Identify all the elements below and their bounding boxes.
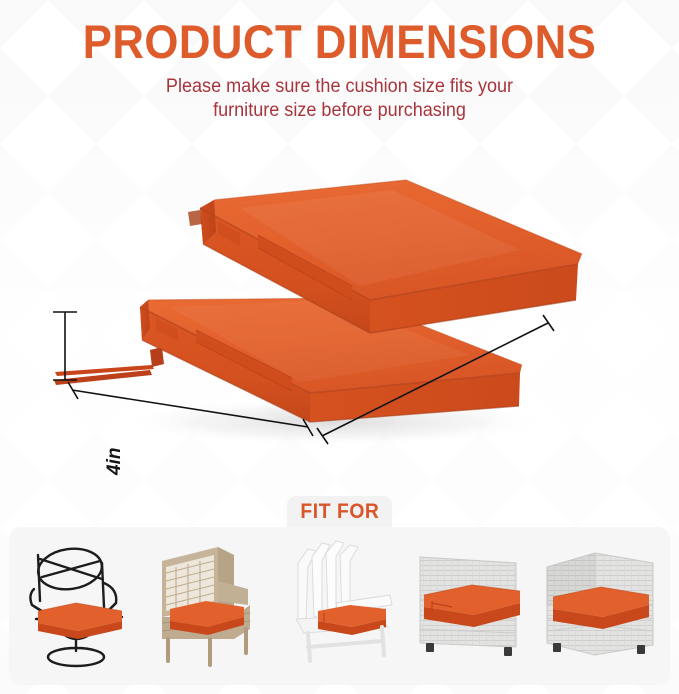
page-subtitle: Please make sure the cushion size fits y…	[17, 75, 662, 124]
fit-for-item-list	[9, 527, 670, 685]
fit-item-black-metal-swivel-chair[interactable]	[13, 527, 144, 679]
fit-item-gray-wicker-corner-sectional-chair[interactable]	[535, 527, 666, 679]
cushion-stack-svg	[0, 150, 679, 480]
fit-item-white-adirondack-chair[interactable]	[274, 527, 405, 679]
orange-cushion-on-chair	[318, 605, 386, 635]
black-metal-swivel-chair-icon	[18, 533, 138, 673]
gray-wicker-corner-sectional-chair-icon	[537, 533, 665, 673]
header: PRODUCT DIMENSIONS Please make sure the …	[0, 18, 679, 124]
subtitle-line-2: furniture size before purchasing	[17, 99, 662, 123]
dimension-label-height: 4in	[104, 448, 126, 475]
white-adirondack-chair-icon	[278, 533, 400, 673]
fit-for-label: FIT FOR	[300, 500, 379, 524]
orange-cushion-on-chair	[38, 603, 122, 639]
gray-wicker-armless-sectional-chair-icon	[406, 533, 534, 673]
fit-for-badge: FIT FOR	[287, 496, 392, 527]
subtitle-line-1: Please make sure the cushion size fits y…	[17, 75, 662, 99]
page-title: PRODUCT DIMENSIONS	[24, 18, 655, 66]
fit-item-brown-wicker-armchair[interactable]	[144, 527, 275, 679]
fit-for-panel	[9, 527, 670, 685]
fit-item-gray-wicker-armless-sectional-chair[interactable]	[405, 527, 536, 679]
product-illustration: 4in 16in 18.5in	[0, 150, 679, 480]
brown-wicker-armchair-icon	[148, 533, 270, 673]
